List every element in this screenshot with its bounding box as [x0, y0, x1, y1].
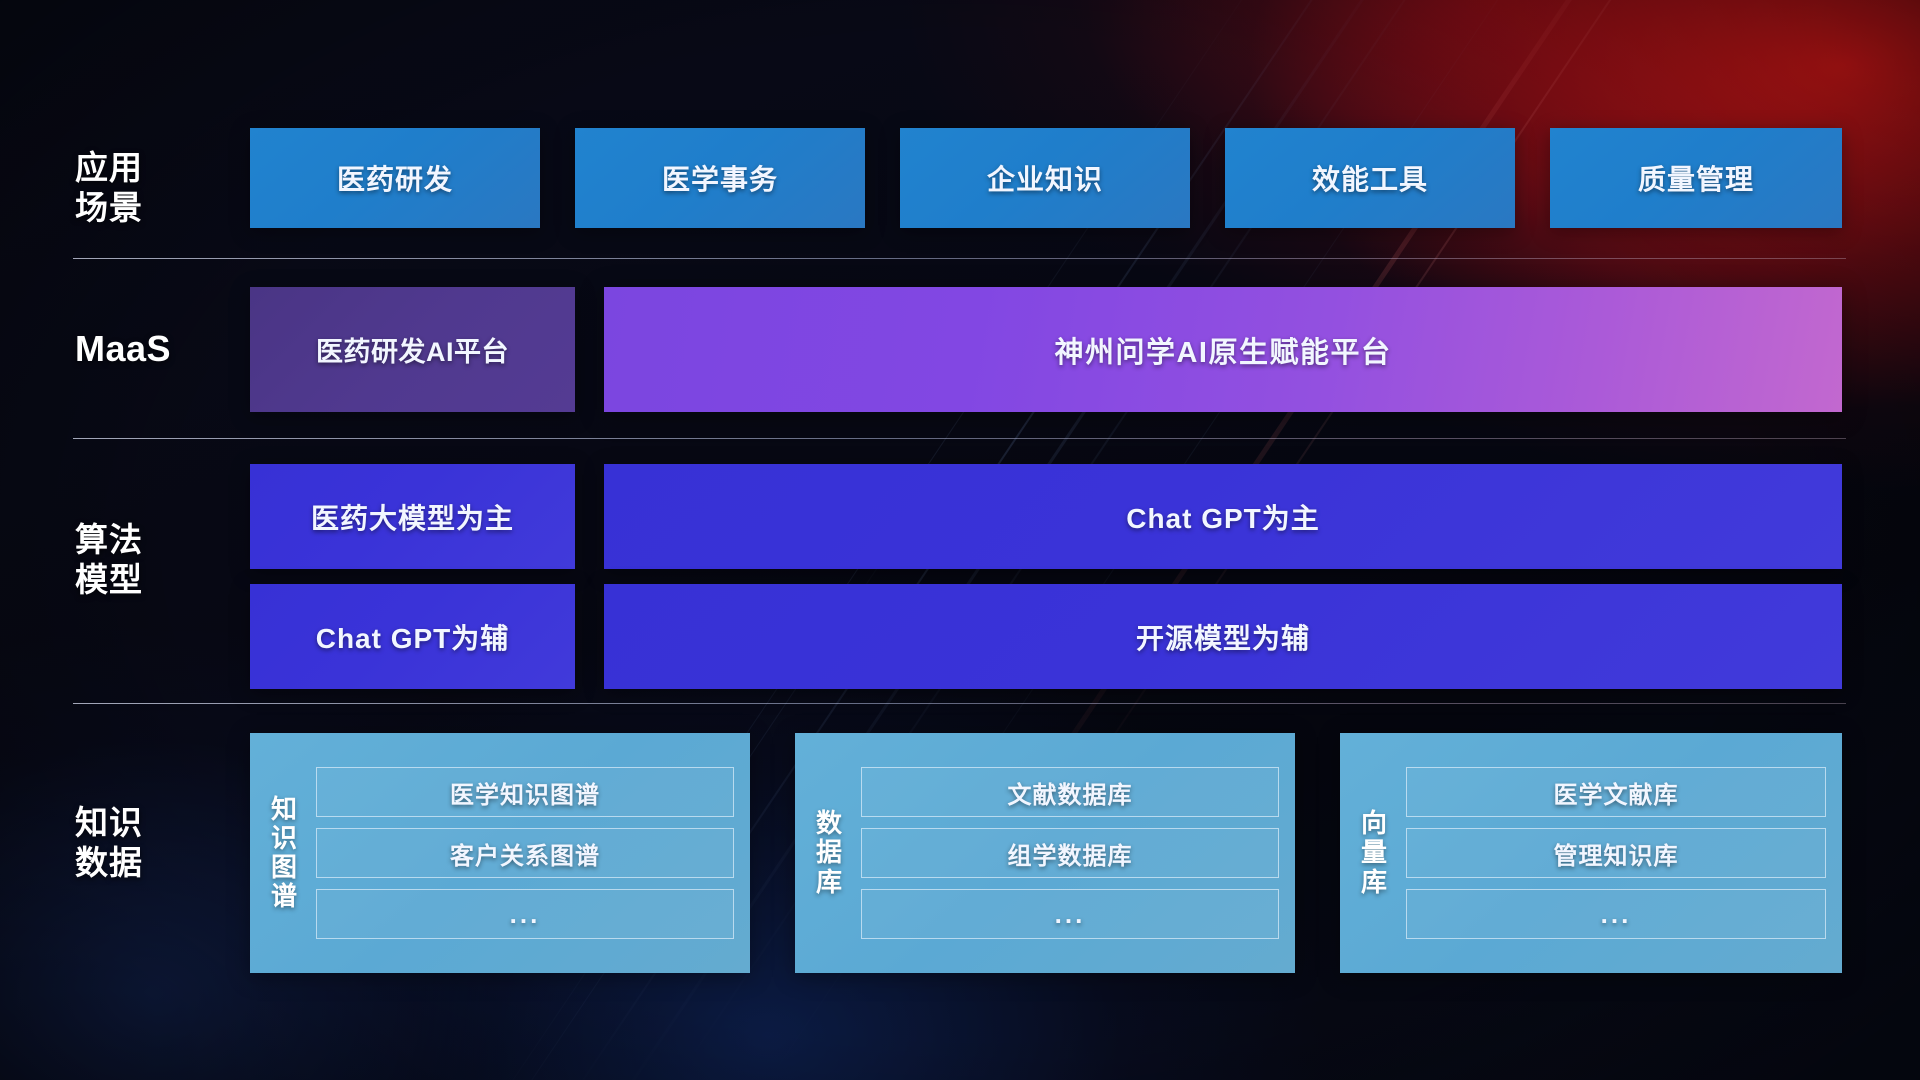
algorithm-box-label: Chat GPT为辅: [316, 617, 510, 657]
knowledge-group-chip-list: 文献数据库 组学数据库 ...: [861, 747, 1279, 959]
knowledge-chip[interactable]: 组学数据库: [861, 828, 1279, 878]
algorithm-box-chatgpt-primary[interactable]: Chat GPT为主: [604, 464, 1842, 569]
maas-box-drug-rnd-ai-platform[interactable]: 医药研发AI平台: [250, 287, 575, 412]
algorithm-box-pharma-llm-primary[interactable]: 医药大模型为主: [250, 464, 575, 569]
row-label-maas: MaaS: [75, 327, 225, 371]
knowledge-group-chip-list: 医学知识图谱 客户关系图谱 ...: [316, 747, 734, 959]
scenario-box-label: 企业知识: [987, 158, 1103, 198]
knowledge-chip-label: 医学知识图谱: [450, 775, 600, 810]
algorithm-box-label: Chat GPT为主: [1126, 497, 1320, 537]
scenario-box-drug-rnd[interactable]: 医药研发: [250, 128, 540, 228]
row-label-algorithm-model: 算法 模型: [75, 520, 225, 601]
knowledge-chip-label: 管理知识库: [1554, 836, 1679, 871]
knowledge-group-database: 数据库 文献数据库 组学数据库 ...: [795, 733, 1295, 973]
knowledge-chip-more[interactable]: ...: [1406, 889, 1826, 939]
knowledge-group-vector-store: 向量库 医学文献库 管理知识库 ...: [1340, 733, 1842, 973]
knowledge-chip[interactable]: 管理知识库: [1406, 828, 1826, 878]
knowledge-group-vertical-label: 知识图谱: [262, 795, 306, 911]
knowledge-chip-more[interactable]: ...: [861, 889, 1279, 939]
knowledge-chip-label: 文献数据库: [1008, 775, 1133, 810]
scenario-box-label: 医药研发: [337, 158, 453, 198]
maas-box-label: 医药研发AI平台: [316, 330, 509, 369]
scenario-box-label: 效能工具: [1312, 158, 1428, 198]
knowledge-chip-label: ...: [1601, 899, 1632, 930]
knowledge-group-chip-list: 医学文献库 管理知识库 ...: [1406, 747, 1826, 959]
knowledge-chip-more[interactable]: ...: [316, 889, 734, 939]
knowledge-group-knowledge-graph: 知识图谱 医学知识图谱 客户关系图谱 ...: [250, 733, 750, 973]
knowledge-chip[interactable]: 文献数据库: [861, 767, 1279, 817]
algorithm-box-label: 医药大模型为主: [311, 497, 514, 537]
divider-1: [73, 258, 1846, 259]
scenario-box-label: 医学事务: [662, 158, 778, 198]
knowledge-chip[interactable]: 客户关系图谱: [316, 828, 734, 878]
slide-canvas: 应用 场景 医药研发 医学事务 企业知识 效能工具 质量管理 MaaS 医药研发…: [0, 0, 1920, 1080]
scenario-box-efficiency-tools[interactable]: 效能工具: [1225, 128, 1515, 228]
maas-box-label: 神州问学AI原生赋能平台: [1054, 329, 1391, 371]
algorithm-box-opensource-secondary[interactable]: 开源模型为辅: [604, 584, 1842, 689]
scenario-box-label: 质量管理: [1638, 158, 1754, 198]
divider-2: [73, 438, 1846, 439]
row-label-knowledge-data: 知识 数据: [75, 803, 225, 884]
algorithm-box-label: 开源模型为辅: [1136, 617, 1310, 657]
knowledge-chip-label: ...: [510, 899, 541, 930]
maas-box-shenzhou-wenxue-platform[interactable]: 神州问学AI原生赋能平台: [604, 287, 1842, 412]
knowledge-chip-label: ...: [1055, 899, 1086, 930]
knowledge-chip-label: 医学文献库: [1554, 775, 1679, 810]
knowledge-group-vertical-label: 向量库: [1352, 809, 1396, 896]
algorithm-box-chatgpt-secondary[interactable]: Chat GPT为辅: [250, 584, 575, 689]
scenario-box-medical-affairs[interactable]: 医学事务: [575, 128, 865, 228]
knowledge-chip[interactable]: 医学文献库: [1406, 767, 1826, 817]
row-label-application-scenarios: 应用 场景: [75, 148, 225, 229]
scenario-box-enterprise-knowledge[interactable]: 企业知识: [900, 128, 1190, 228]
knowledge-chip-label: 组学数据库: [1008, 836, 1133, 871]
scenario-box-quality-management[interactable]: 质量管理: [1550, 128, 1842, 228]
architecture-diagram: 应用 场景 医药研发 医学事务 企业知识 效能工具 质量管理 MaaS 医药研发…: [0, 0, 1920, 1080]
knowledge-group-vertical-label: 数据库: [807, 809, 851, 896]
knowledge-chip-label: 客户关系图谱: [450, 836, 600, 871]
knowledge-chip[interactable]: 医学知识图谱: [316, 767, 734, 817]
divider-3: [73, 703, 1846, 704]
